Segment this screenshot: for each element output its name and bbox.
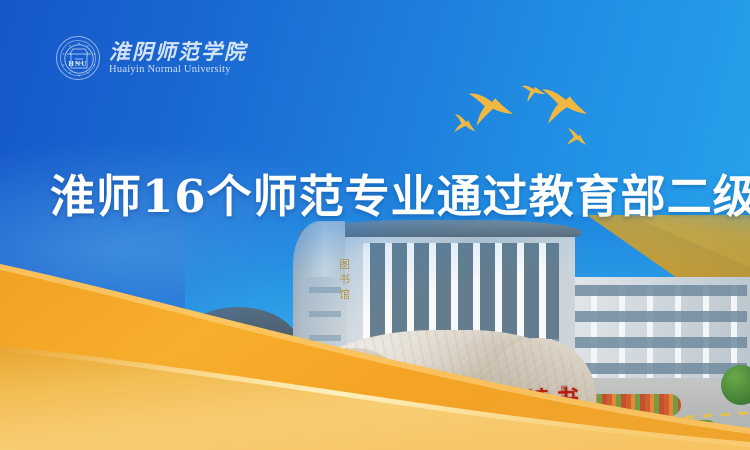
library-sign-text: 图书馆 — [337, 257, 353, 302]
seal-initials: HNU — [57, 60, 99, 68]
banner-headline: 淮师16个师范专业通过教育部二级认证 — [50, 168, 750, 226]
university-logo[interactable]: HNU 淮阴师范学院 Huaiyin Normal University — [56, 36, 247, 80]
university-name-cn: 淮阴师范学院 — [109, 40, 247, 63]
tree — [207, 361, 259, 405]
university-news-banner: 图书馆 为中华之崛起而读书 周恩来 — [0, 0, 750, 450]
university-name-en: Huaiyin Normal University — [109, 64, 247, 76]
university-seal-icon: HNU — [56, 36, 100, 80]
stone-seal-mark: 周恩来 — [556, 385, 572, 413]
logo-text-block: 淮阴师范学院 Huaiyin Normal University — [109, 40, 247, 76]
library-glass-facade — [363, 243, 559, 339]
